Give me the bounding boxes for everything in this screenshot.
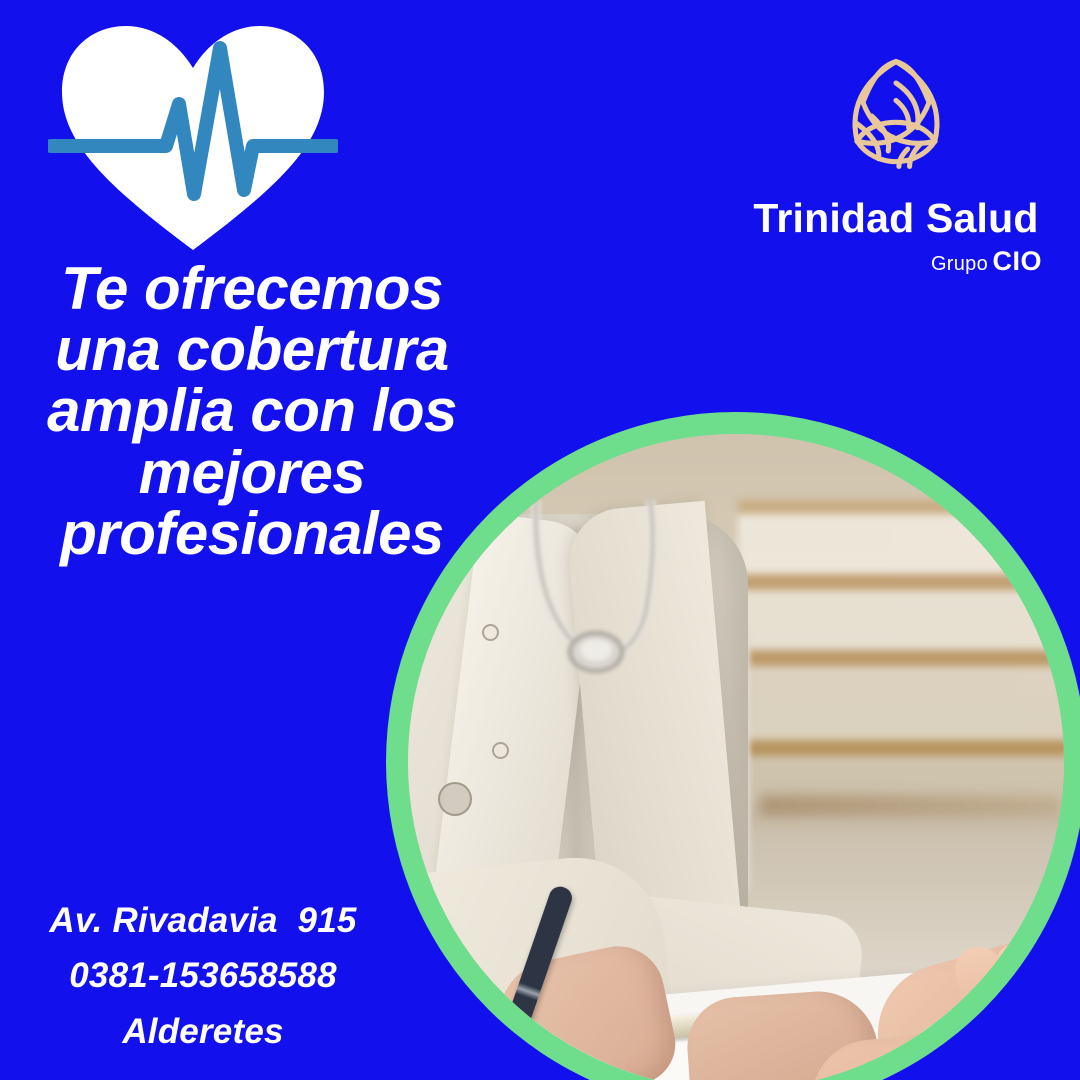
contact-phone: 0381-153658588 — [18, 948, 388, 1003]
doctor-photo — [408, 434, 1064, 1080]
brand-logo-block: Trinidad Salud Grupo CIO — [746, 46, 1046, 275]
brand-group-prefix: Grupo — [931, 253, 988, 275]
contact-city: Alderetes — [18, 1004, 388, 1059]
heart-pulse-icon — [48, 12, 338, 257]
stethoscope-icon — [478, 500, 748, 740]
headline-line-3: amplia con los — [26, 380, 478, 441]
photo-green-ring — [386, 412, 1080, 1080]
brand-name: Trinidad Salud — [746, 198, 1046, 239]
triquetra-trinity-knot-icon — [828, 46, 964, 186]
background-shelving — [738, 500, 1064, 800]
contact-block: Av. Rivadavia 915 0381-153658588 Alderet… — [18, 893, 388, 1059]
background-shelf-base — [760, 794, 1060, 816]
brand-group-line: Grupo CIO — [746, 248, 1046, 275]
headline-line-1: Te ofrecemos — [26, 258, 478, 319]
promo-poster: Trinidad Salud Grupo CIO Te ofrecemos un… — [0, 0, 1080, 1080]
headline-line-2: una cobertura — [26, 319, 478, 380]
contact-address: Av. Rivadavia 915 — [18, 893, 388, 948]
brand-group-name: CIO — [992, 246, 1042, 276]
coat-button — [492, 742, 509, 759]
coat-button — [438, 782, 472, 816]
photo-artwork — [408, 434, 1064, 1080]
